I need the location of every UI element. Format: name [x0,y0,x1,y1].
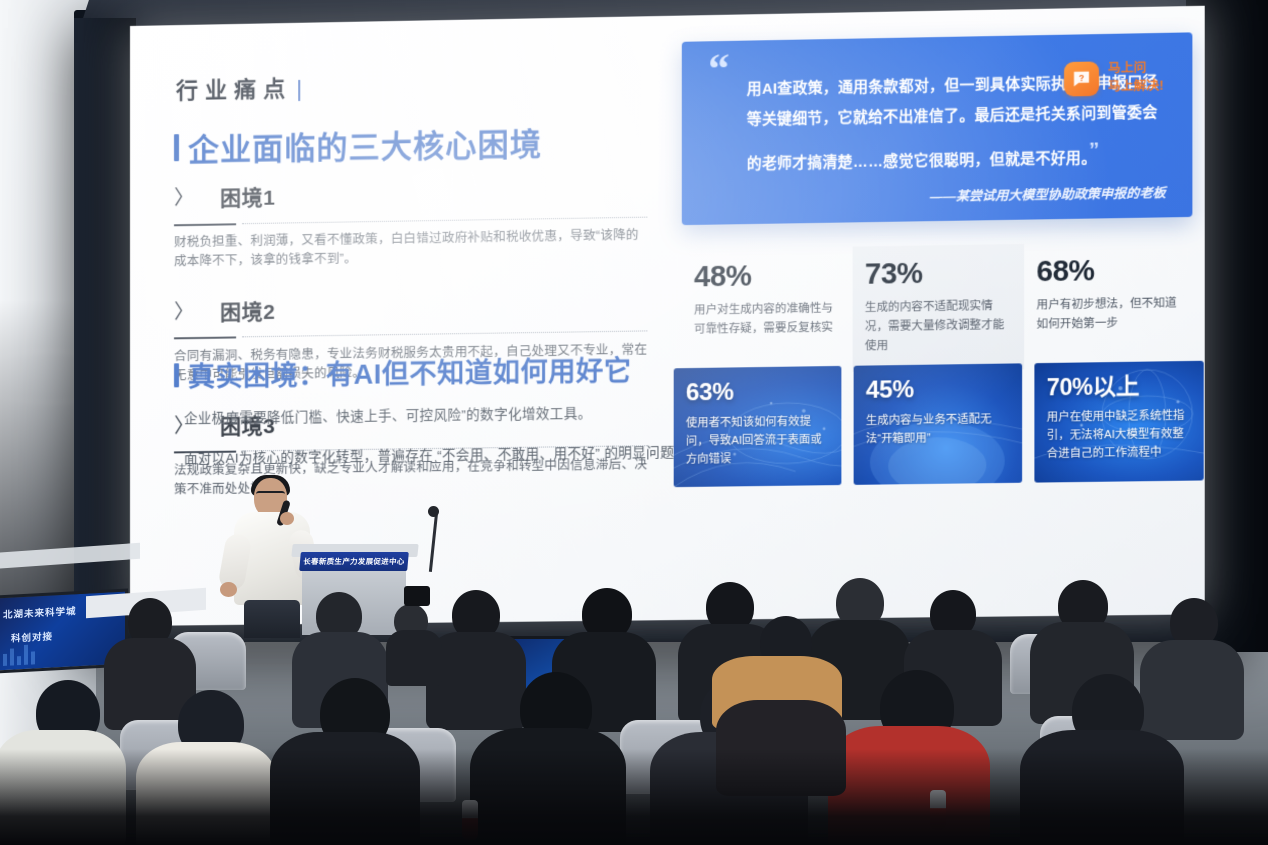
stat-description: 用户有初步想法，但不知道如何开始第一步 [1036,294,1182,334]
stat-item: 48% 用户对生成内容的准确性与可靠性存疑，需要反复核实 [682,247,853,375]
side-display-line1: 北湖未来科学城 [3,603,77,621]
stat-row: 48% 用户对生成内容的准确性与可靠性存疑，需要反复核实 73% 生成的内容不适… [682,241,1197,374]
speaker-left-hand [220,582,237,597]
highlight-card: 63% 使用者不知该如何有效提问，导致AI回答流于表面或方向错误 [674,366,842,487]
brand-logo-line1: 马上问 [1108,59,1164,78]
issue-item: 〉 困境1 财税负担重、利润薄，又看不懂政策，白白错过政府补贴和税收优惠，导致“… [174,175,647,272]
chevron-right-icon: 〉 [174,302,194,322]
stat-value: 68% [1036,256,1182,288]
issue-title: 困境2 [220,296,275,327]
stat-item: 73% 生成的内容不适配现实情况，需要大量修改调整才能使用 [853,244,1025,372]
heading-tick-icon [174,363,179,387]
quote-close-mark-icon: ” [1089,139,1100,161]
slide-heading-secondary-text: 真实困境：有AI但不知道如何用好它 [188,349,632,394]
side-display-graphic-icon [1,640,71,666]
card-description: 用户在使用中缺乏系统性指引，无法将AI大模型有效整合进自己的工作流程中 [1047,407,1192,464]
mic-head-icon [428,506,439,517]
brand-logo-icon [1064,61,1099,96]
slide-heading-secondary: 真实困境：有AI但不知道如何用好它 [174,349,632,395]
card-value: 70%以上 [1047,374,1192,399]
conference-photo-stage: 行业痛点| 企业面临的三大核心困境 〉 困境1 财税负担重、利润薄，又看不懂政策… [0,0,1268,845]
brand-logo-text: 马上问 马上解决! [1108,59,1164,96]
slide-heading-primary: 企业面临的三大核心困境 [174,119,542,170]
highlight-card: 45% 生成内容与业务不适配无法“开箱即用” [854,363,1022,485]
slide-heading-primary-text: 企业面临的三大核心困境 [188,119,542,170]
chevron-right-icon: 〉 [174,188,194,208]
floor-monitor [498,636,596,704]
card-description: 生成内容与业务不适配无法“开箱即用” [866,410,1010,449]
issue-divider [174,331,647,339]
stat-value: 73% [865,258,1010,290]
card-value: 45% [866,377,1010,403]
brand-logo: 马上问 马上解决! [1064,59,1164,97]
issue-body: 财税负担重、利润薄，又看不懂政策，白白错过政府补贴和税收优惠，导致“该降的成本降… [174,226,647,272]
podium: 长春新质生产力发展促进中心 [292,530,418,638]
stat-value: 48% [694,261,838,292]
issue-header: 〉 困境1 [174,175,647,213]
podium-sign: 长春新质生产力发展促进中心 [299,552,409,571]
heading-tick-icon [174,134,179,161]
slide-kicker-bar: | [296,76,309,101]
stat-description: 用户对生成内容的准确性与可靠性存疑，需要反复核实 [694,299,838,339]
chat-question-icon [1070,67,1093,90]
speaker-glasses-icon [256,491,285,501]
stat-item: 68% 用户有初步想法，但不知道如何开始第一步 [1024,241,1196,370]
highlight-card-row: 63% 使用者不知该如何有效提问，导致AI回答流于表面或方向错误 45% 生成内… [674,361,1205,487]
issue-divider [174,217,647,226]
highlight-card: 70%以上 用户在使用中缺乏系统性指引，无法将AI大模型有效整合进自己的工作流程… [1034,361,1203,483]
quote-attribution: ——某尝试用大模型协助政策申报的老板 [708,182,1165,209]
card-value: 63% [686,379,829,405]
speaker-right-hand [280,512,294,525]
slide-kicker: 行业痛点| [176,71,309,105]
slide-kicker-text: 行业痛点 [176,76,292,103]
brand-logo-line2: 马上解决! [1108,77,1164,96]
issue-title: 困境1 [220,182,275,213]
stat-description: 生成的内容不适配现实情况，需要大量修改调整才能使用 [865,297,1010,356]
issue-header: 〉 困境2 [174,290,647,327]
card-description: 使用者不知该如何有效提问，导致AI回答流于表面或方向错误 [686,413,829,470]
